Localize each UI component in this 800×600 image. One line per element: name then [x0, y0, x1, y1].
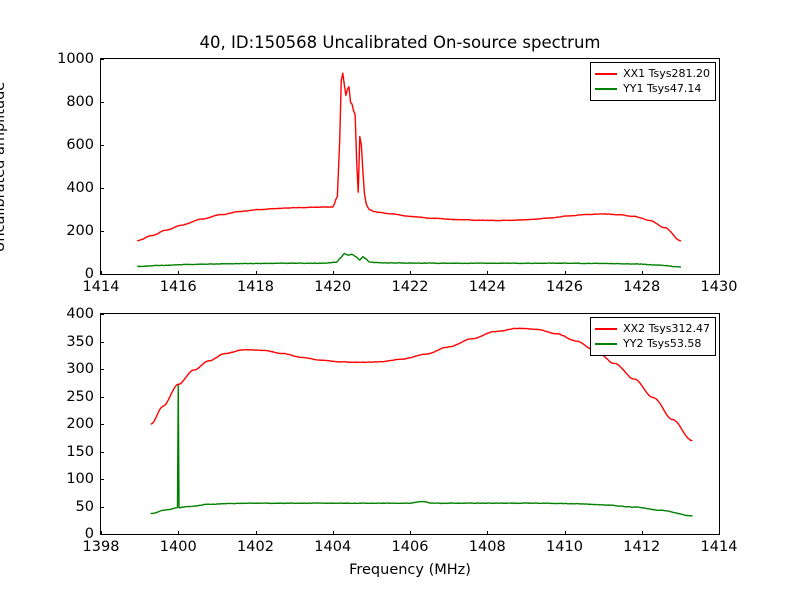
xtick-label: 1422 [392, 279, 429, 295]
top-panel-plot-area: XX1 Tsys281.20 YY1 Tsys47.14 [100, 58, 720, 275]
figure-canvas: 40, ID:150568 Uncalibrated On-source spe… [0, 0, 800, 600]
ytick-label: 0 [52, 526, 94, 542]
top-panel-ylabel: Uncalibrated amplitude [0, 82, 8, 252]
xtick-label: 1430 [701, 279, 738, 295]
ytick-mark [100, 369, 104, 370]
xtick-mark [565, 531, 566, 535]
ytick-mark [100, 479, 104, 480]
ytick-mark [100, 59, 104, 60]
ytick-label: 600 [52, 137, 94, 153]
ytick-label: 200 [52, 416, 94, 432]
series-line [138, 254, 681, 268]
xtick-mark [410, 271, 411, 275]
legend-swatch-yy1 [595, 88, 617, 90]
legend-item: YY1 Tsys47.14 [595, 81, 710, 96]
ytick-label: 800 [52, 94, 94, 110]
xtick-mark [333, 531, 334, 535]
ytick-label: 100 [52, 471, 94, 487]
ytick-mark [100, 274, 104, 275]
legend-swatch-yy2 [595, 343, 617, 345]
legend-label-xx1: XX1 Tsys281.20 [623, 68, 710, 79]
legend-item: XX2 Tsys312.47 [595, 321, 710, 336]
ytick-mark [100, 397, 104, 398]
ytick-mark [100, 145, 104, 146]
xtick-label: 1406 [392, 539, 429, 555]
ytick-mark [100, 452, 104, 453]
xtick-mark [642, 531, 643, 535]
ytick-mark [100, 188, 104, 189]
ytick-mark [100, 424, 104, 425]
xtick-label: 1416 [160, 279, 197, 295]
xtick-label: 1412 [623, 539, 660, 555]
xtick-mark [256, 531, 257, 535]
xtick-label: 1414 [701, 539, 738, 555]
legend-item: XX1 Tsys281.20 [595, 66, 710, 81]
ytick-label: 50 [52, 499, 94, 515]
ytick-mark [100, 534, 104, 535]
ytick-label: 400 [52, 180, 94, 196]
ytick-label: 0 [52, 266, 94, 282]
xtick-mark [487, 271, 488, 275]
xtick-mark [333, 271, 334, 275]
series-line [151, 386, 692, 516]
xtick-label: 1424 [469, 279, 506, 295]
bottom-panel-legend: XX2 Tsys312.47 YY2 Tsys53.58 [590, 317, 716, 356]
xtick-mark [410, 531, 411, 535]
legend-swatch-xx2 [595, 328, 617, 330]
bottom-panel-xlabel: Frequency (MHz) [349, 562, 471, 578]
ytick-mark [100, 342, 104, 343]
xtick-label: 1420 [314, 279, 351, 295]
ytick-label: 400 [52, 306, 94, 322]
xtick-mark [178, 271, 179, 275]
xtick-mark [565, 271, 566, 275]
ytick-mark [100, 314, 104, 315]
xtick-label: 1418 [237, 279, 274, 295]
ytick-label: 300 [52, 361, 94, 377]
xtick-mark [487, 531, 488, 535]
top-panel-legend: XX1 Tsys281.20 YY1 Tsys47.14 [590, 62, 716, 101]
xtick-label: 1426 [546, 279, 583, 295]
xtick-mark [178, 531, 179, 535]
ytick-label: 250 [52, 389, 94, 405]
xtick-label: 1400 [160, 539, 197, 555]
legend-item: YY2 Tsys53.58 [595, 336, 710, 351]
ytick-label: 200 [52, 223, 94, 239]
xtick-label: 1402 [237, 539, 274, 555]
legend-label-yy2: YY2 Tsys53.58 [623, 338, 701, 349]
legend-swatch-xx1 [595, 73, 617, 75]
ytick-mark [100, 507, 104, 508]
xtick-label: 1428 [623, 279, 660, 295]
legend-label-xx2: XX2 Tsys312.47 [623, 323, 710, 334]
ytick-mark [100, 102, 104, 103]
ytick-mark [100, 231, 104, 232]
ytick-label: 350 [52, 334, 94, 350]
xtick-mark [719, 271, 720, 275]
ytick-label: 1000 [52, 51, 94, 67]
bottom-panel-plot-area: XX2 Tsys312.47 YY2 Tsys53.58 [100, 313, 720, 535]
xtick-mark [256, 271, 257, 275]
page-title: 40, ID:150568 Uncalibrated On-source spe… [0, 33, 800, 52]
ytick-label: 150 [52, 444, 94, 460]
xtick-label: 1404 [314, 539, 351, 555]
xtick-mark [719, 531, 720, 535]
xtick-label: 1408 [469, 539, 506, 555]
xtick-mark [642, 271, 643, 275]
legend-label-yy1: YY1 Tsys47.14 [623, 83, 701, 94]
xtick-label: 1410 [546, 539, 583, 555]
